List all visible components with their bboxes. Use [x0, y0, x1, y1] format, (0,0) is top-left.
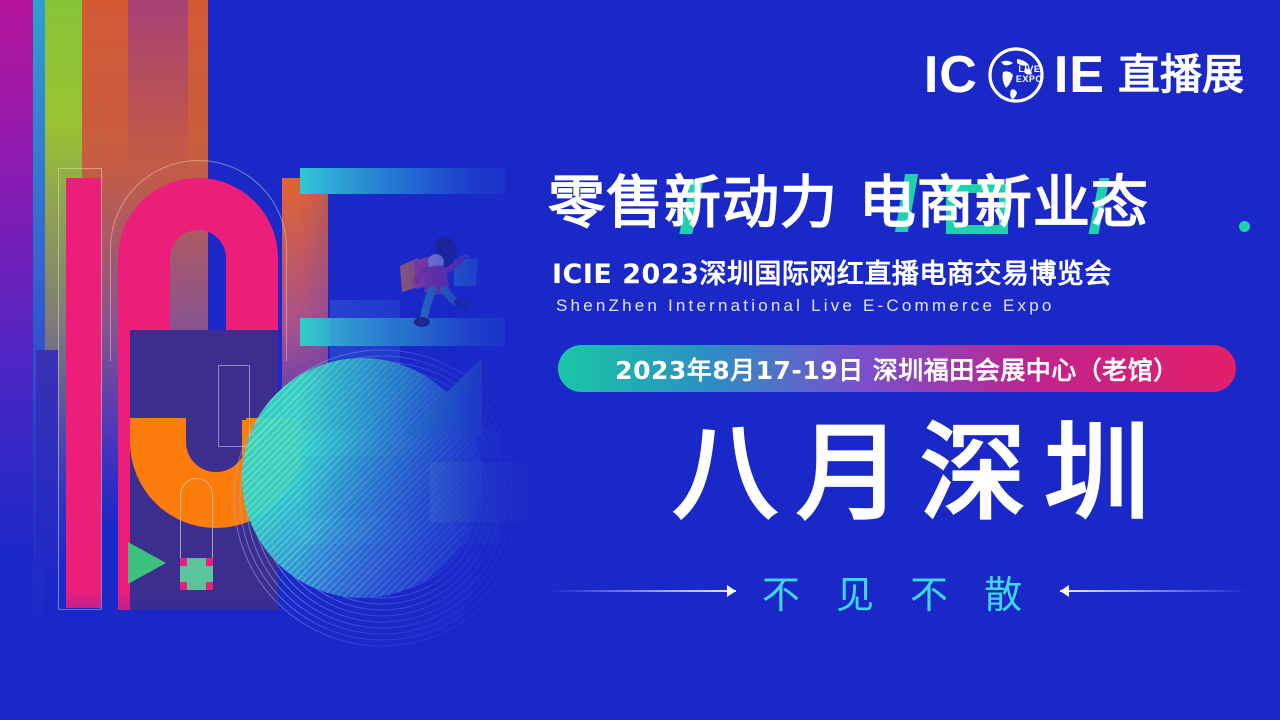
headline-accent-dot	[1239, 221, 1250, 232]
logo-suffix-cn: 直播展	[1118, 54, 1244, 96]
tagline-text: 不 见 不 散	[736, 564, 1060, 619]
tagline-rule-right	[1060, 580, 1248, 602]
subtitle-english: ShenZhen International Live E-Commerce E…	[556, 296, 1055, 316]
icie-logo[interactable]: IC LIVE EXPO IE 直播展	[924, 46, 1244, 104]
globe-label: LIVE EXPO	[1016, 64, 1043, 84]
tagline-rule-left	[548, 580, 736, 602]
event-date-venue-pill: 2023年8月17-19日 深圳福田会展中心（老馆）	[558, 345, 1236, 392]
tagline-line-right	[1060, 590, 1248, 592]
promo-banner: IC LIVE EXPO IE 直播展 零售新动力 电商新业态 ICIE	[0, 0, 1280, 720]
headline-text: 零售新动力 电商新业态	[548, 172, 1248, 234]
arrow-left-icon	[1060, 585, 1069, 597]
globe-label-live: LIVE	[1018, 64, 1040, 74]
headline: 零售新动力 电商新业态	[548, 172, 1248, 234]
event-date-venue-text: 2023年8月17-19日 深圳福田会展中心（老馆）	[615, 351, 1179, 387]
subtitle-chinese: ICIE 2023深圳国际网红直播电商交易博览会	[552, 252, 1112, 291]
logo-letters-ie: IE	[1054, 49, 1105, 101]
big-headline-text: 八月深圳	[640, 418, 1200, 530]
globe-icon: LIVE EXPO	[987, 46, 1045, 104]
tagline-row: 不 见 不 散	[548, 565, 1248, 617]
tagline-line-left	[548, 590, 736, 592]
arrow-right-icon	[727, 585, 736, 597]
globe-label-expo: EXPO	[1016, 74, 1043, 84]
artwork-right-fade	[0, 0, 540, 720]
logo-letter-i: IC	[924, 49, 978, 101]
decorative-artwork	[0, 0, 540, 720]
